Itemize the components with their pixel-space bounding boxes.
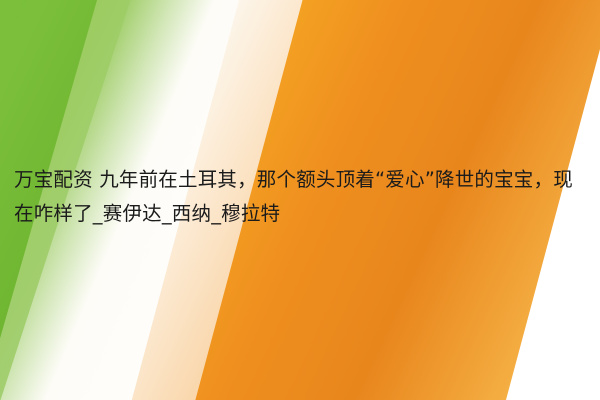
title-container: 万宝配资 九年前在土耳其，那个额头顶着“爱心”降世的宝宝，现在咋样了_赛伊达_西…	[0, 0, 600, 400]
banner-title: 万宝配资 九年前在土耳其，那个额头顶着“爱心”降世的宝宝，现在咋样了_赛伊达_西…	[14, 163, 586, 231]
banner-image: 万宝配资 九年前在土耳其，那个额头顶着“爱心”降世的宝宝，现在咋样了_赛伊达_西…	[0, 0, 600, 400]
